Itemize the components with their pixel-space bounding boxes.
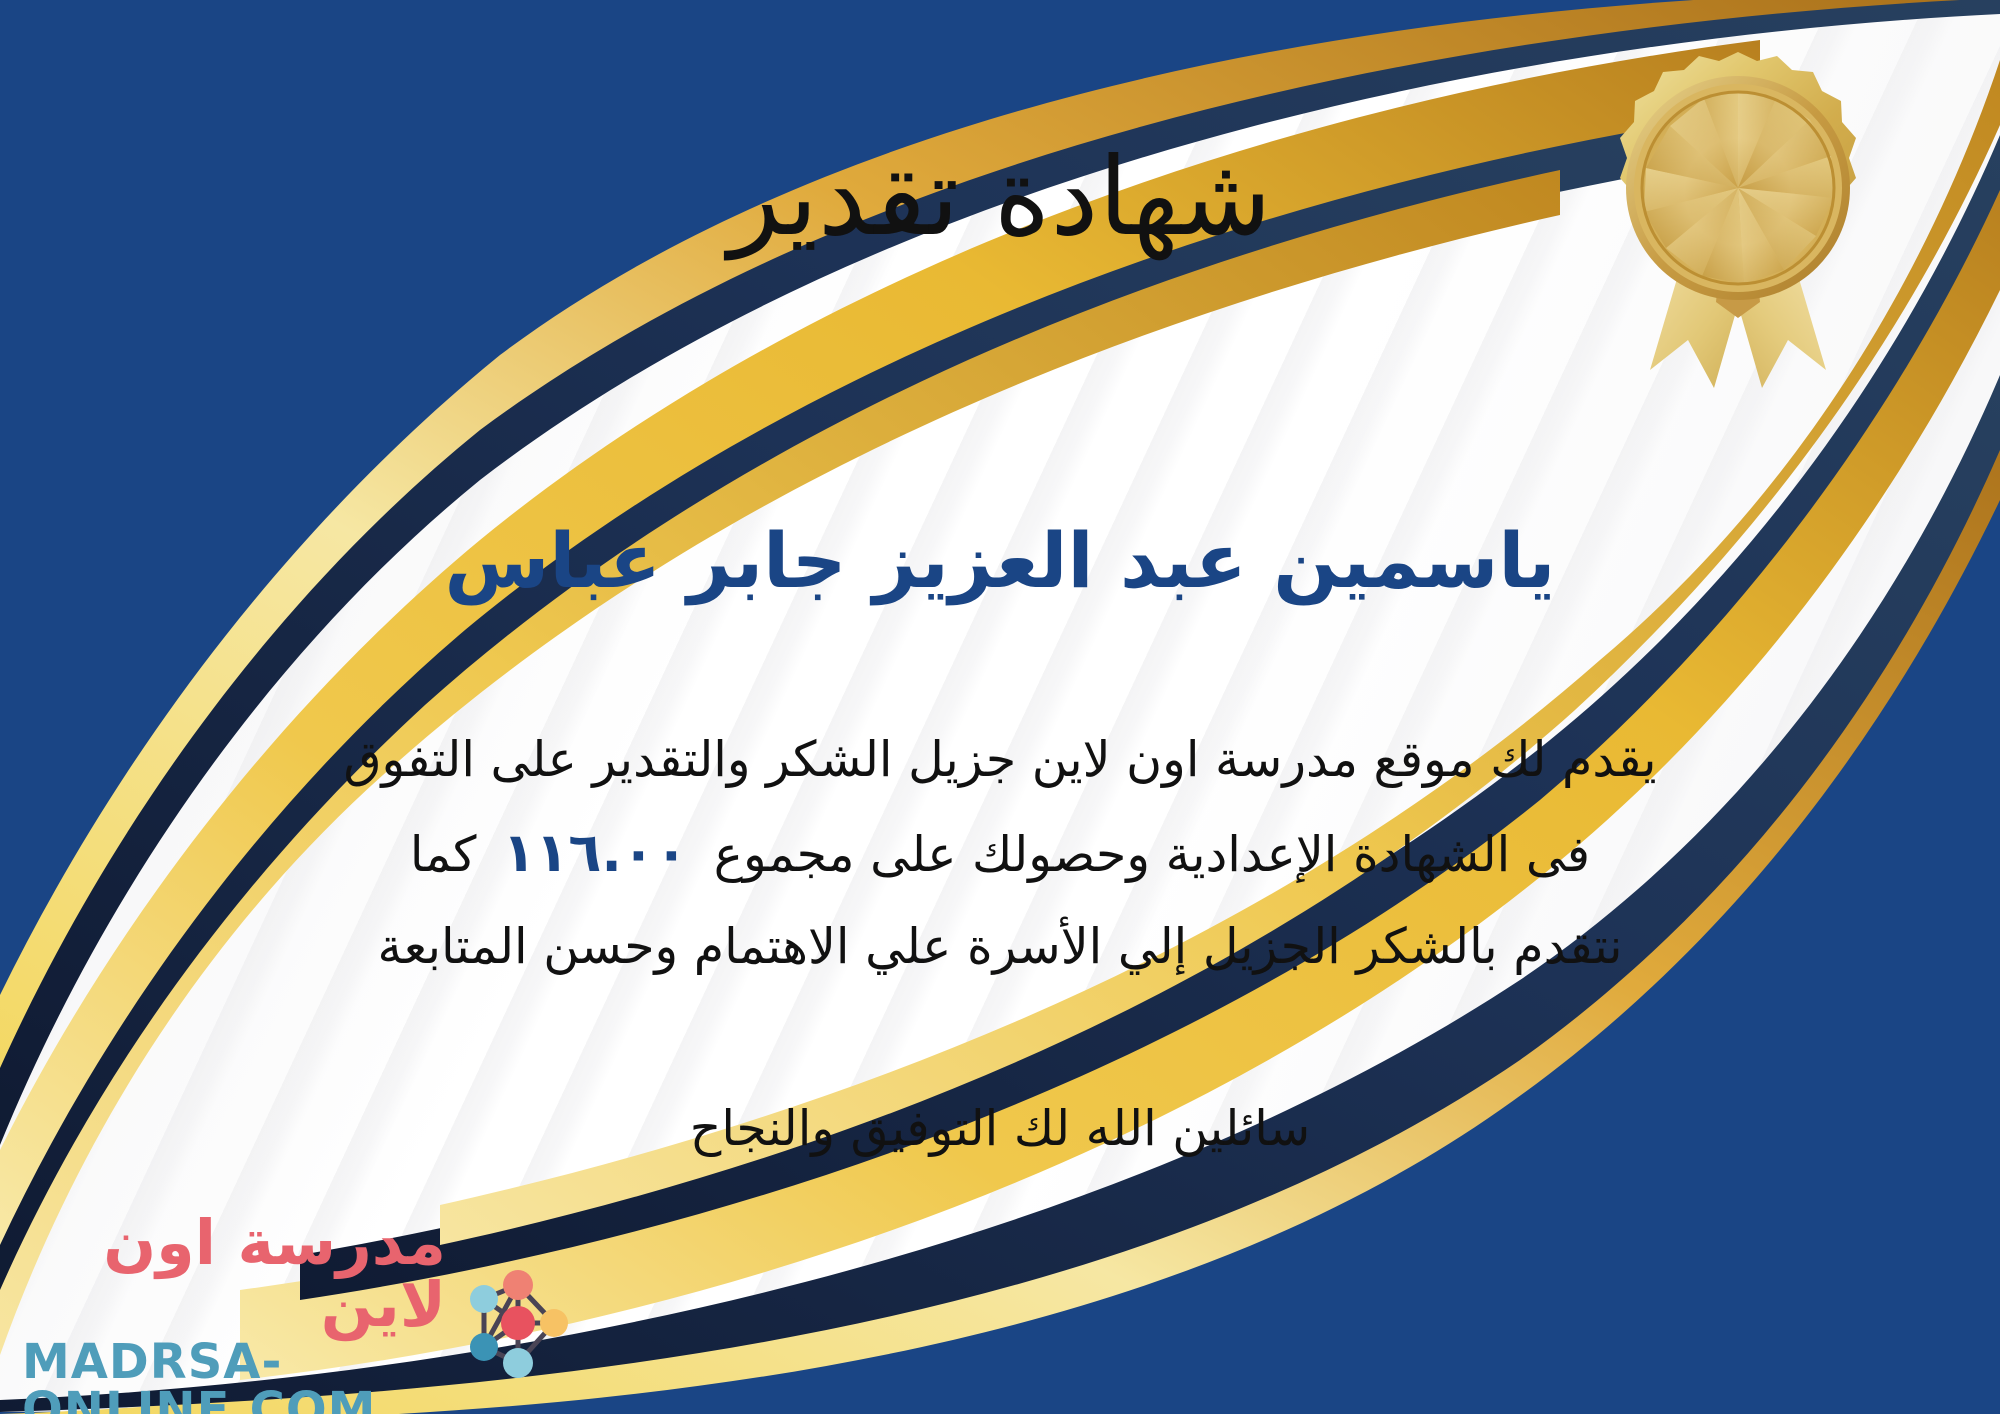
certificate-content: شهادة تقدير ياسمين عبد العزيز جابر عباس … — [0, 0, 2000, 1414]
network-nodes-icon — [454, 1259, 582, 1387]
body-line-2: فى الشهادة الإعدادية وحصولك على مجموع١١٦… — [40, 804, 1960, 902]
body-line-2-suffix: كما — [410, 826, 477, 883]
body-line-1: يقدم لك موقع مدرسة اون لاين جزيل الشكر و… — [40, 715, 1960, 804]
closing-wish: سائلين الله لك التوفيق والنجاح — [0, 1090, 2000, 1168]
brand-wordmark: مدرسة اون لاين MADRSA-ONLINE.COM — [22, 1212, 446, 1414]
certificate-body: يقدم لك موقع مدرسة اون لاين جزيل الشكر و… — [40, 715, 1960, 992]
certificate-title: شهادة تقدير — [0, 130, 2000, 265]
brand-website-url: MADRSA-ONLINE.COM — [22, 1338, 446, 1414]
total-score-value: ١١٦.٠٠ — [476, 821, 713, 884]
brand-arabic-name: مدرسة اون لاين — [22, 1212, 446, 1336]
recipient-name: ياسمين عبد العزيز جابر عباس — [0, 512, 2000, 611]
body-line-3: نتقدم بالشكر الجزيل إلي الأسرة علي الاهت… — [40, 902, 1960, 991]
body-line-2-prefix: فى الشهادة الإعدادية وحصولك على مجموع — [714, 826, 1590, 883]
brand-logo[interactable]: مدرسة اون لاين MADRSA-ONLINE.COM — [22, 1244, 582, 1402]
certificate-page: شهادة تقدير ياسمين عبد العزيز جابر عباس … — [0, 0, 2000, 1414]
